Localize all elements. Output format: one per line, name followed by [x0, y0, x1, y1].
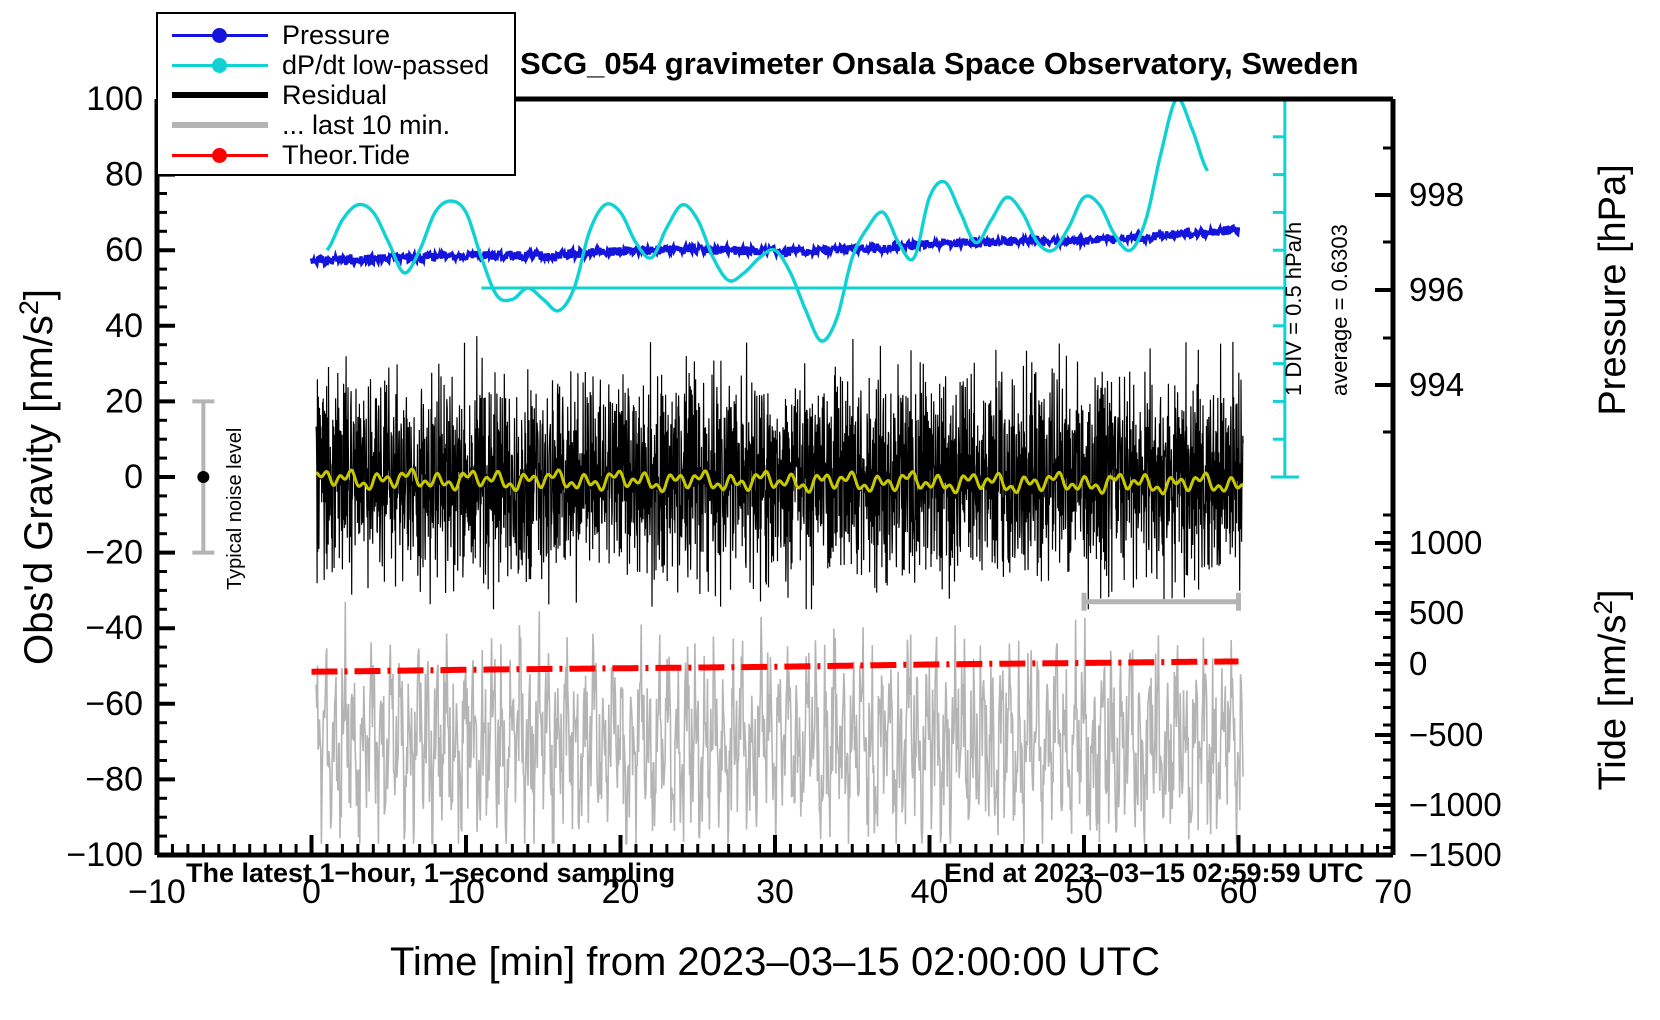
right-tide-tick-label: −1000 [1409, 786, 1502, 823]
noise-level-label: Typical noise level [224, 400, 247, 590]
legend-item-0[interactable]: Pressure [158, 20, 514, 50]
left-tick-label: 60 [105, 231, 143, 269]
legend-item-3[interactable]: ... last 10 min. [158, 110, 514, 140]
bottom-tick-label: 70 [1374, 873, 1412, 911]
legend-label-2: Residual [282, 80, 387, 111]
legend-swatch-3 [172, 115, 268, 135]
left-tick-label: 40 [105, 307, 143, 345]
note-div-scale: 1 DIV = 0.5 hPa/h [1281, 0, 1311, 196]
legend-item-2[interactable]: Residual [158, 80, 514, 110]
right-tide-tick-label: 1000 [1409, 524, 1482, 561]
legend-label-4: Theor.Tide [282, 140, 410, 171]
legend-item-4[interactable]: Theor.Tide [158, 140, 514, 170]
left-tick-label: −60 [85, 685, 143, 723]
noise-bar-center-dot [197, 471, 209, 483]
legend-label-0: Pressure [282, 20, 390, 51]
right-pressure-tick-label: 998 [1409, 176, 1464, 213]
left-tick-label: −100 [66, 836, 143, 874]
annotation-bottom-left: The latest 1−hour, 1−second sampling [186, 858, 675, 889]
left-tick-label: −80 [85, 760, 143, 798]
legend-swatch-1 [172, 55, 268, 75]
legend-item-1[interactable]: dP/dt low-passed [158, 50, 514, 80]
right-tide-tick-label: 0 [1409, 645, 1427, 682]
bottom-axis-title: Time [min] from 2023–03–15 02:00:00 UTC [390, 940, 1160, 984]
annotation-bottom-right: End at 2023–03−15 02:59:59 UTC [944, 858, 1364, 889]
right-pressure-tick-label: 996 [1409, 271, 1464, 308]
legend-swatch-0 [172, 25, 268, 45]
legend-swatch-4 [172, 145, 268, 165]
noise-level-label-wrap: Typical noise level [224, 210, 250, 400]
plot-root: 100806040200−20−40−60−80−100−10010203040… [0, 0, 1660, 1020]
legend-box: PressuredP/dt low-passedResidual... last… [156, 12, 516, 176]
left-tick-label: −20 [85, 534, 143, 572]
left-axis-title: Obs'd Gravity [nm/s2] [14, 289, 61, 665]
legend-label-3: ... last 10 min. [282, 110, 450, 141]
page-title: SCG_054 gravimeter Onsala Space Observat… [520, 46, 1359, 82]
left-tick-label: 0 [124, 458, 143, 496]
right-tide-tick-label: 500 [1409, 594, 1464, 631]
note-average-text: average = 0.6303 [1327, 196, 1353, 396]
bottom-tick-label: −10 [128, 873, 186, 911]
right-pressure-tick-label: 994 [1409, 366, 1464, 403]
right-pressure-axis-title: Pressure [hPa] [1592, 164, 1634, 415]
right-tide-tick-label: −1500 [1409, 836, 1502, 873]
left-tick-label: −40 [85, 609, 143, 647]
note-div-scale-text: 1 DIV = 0.5 hPa/h [1281, 196, 1307, 396]
note-average: average = 0.6303 [1327, 0, 1357, 196]
bottom-tick-label: 40 [911, 873, 949, 911]
legend-label-1: dP/dt low-passed [282, 50, 489, 81]
bottom-tick-label: 30 [756, 873, 794, 911]
left-tick-label: 100 [86, 80, 143, 118]
left-tick-label: 80 [105, 156, 143, 194]
left-tick-label: 20 [105, 382, 143, 420]
right-tide-tick-label: −500 [1409, 716, 1483, 753]
legend-swatch-2 [172, 85, 268, 105]
right-tide-axis-title: Tide [nm/s2] [1588, 589, 1634, 790]
